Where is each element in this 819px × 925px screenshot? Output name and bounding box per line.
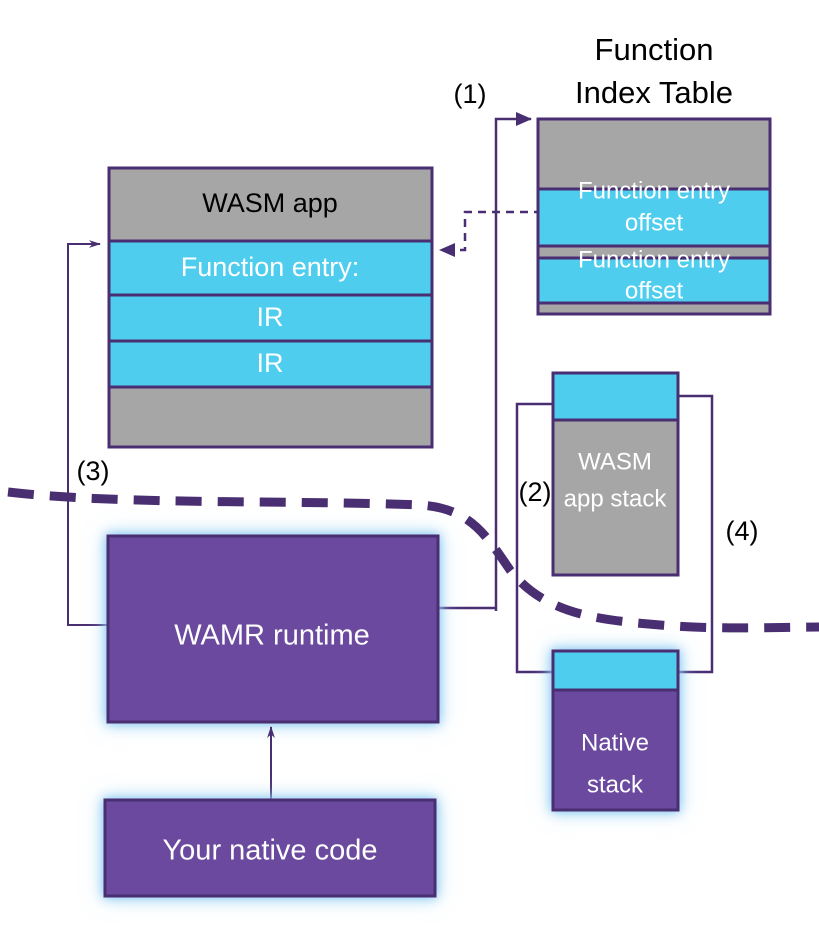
wasm-app-stack-top-band[interactable] [553,373,678,420]
index-table-entry-0-line1: Function entry [578,177,730,204]
native-stack-label-line2: stack [587,771,644,798]
wamr-runtime-label: WAMR runtime [174,620,370,652]
wasm-app-row-label-2: IR [257,348,284,378]
native-code-label: Your native code [163,835,378,867]
wasm-app-footer-band [109,387,432,447]
index-table-title-line1: Function [595,32,714,67]
index-table-entry-1-line2: offset [625,277,684,304]
step-label-3: (3) [77,456,110,486]
wasm-app-box[interactable]: WASM app Function entry: IR IR [109,168,432,447]
index-table-entry-0-line2: offset [625,209,684,236]
wasm-app-row-label-0: Function entry: [181,252,360,282]
step-label-4: (4) [726,516,759,546]
step-label-1: (1) [454,79,487,109]
function-index-table[interactable]: Function entry offset Function entry off… [538,119,770,314]
wasm-app-header-label: WASM app [202,188,338,218]
connector-step-1 [496,119,531,611]
diagram-canvas: Function Index Table (1) (2) (3) (4) [0,0,819,925]
wasm-app-stack-box[interactable]: WASM app stack [553,373,678,575]
connector-step-3 [68,244,108,625]
wasm-app-stack-label-line2: app stack [564,485,668,512]
index-table-entry-1-line1: Function entry [578,246,730,273]
diagram-svg: Function Index Table (1) (2) (3) (4) [0,0,819,925]
native-stack-top-band[interactable] [553,651,678,690]
index-table-title-line2: Index Table [575,75,733,110]
step-label-2: (2) [519,477,552,507]
wasm-app-row-label-1: IR [257,302,284,332]
native-stack-label-line1: Native [581,729,649,756]
index-table-separator-1 [538,303,770,314]
wasm-app-stack-label-line1: WASM [578,448,652,475]
